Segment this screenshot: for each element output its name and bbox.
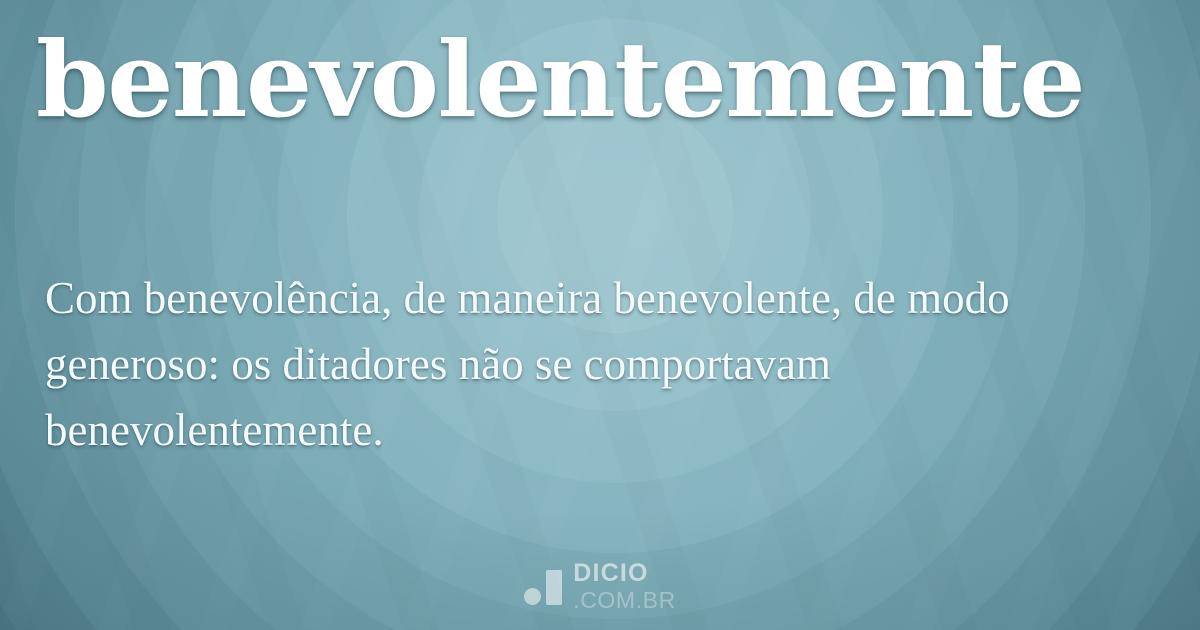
bar-mark-icon [546, 570, 562, 605]
headword-title: benevolentemente [36, 18, 1176, 142]
dicio-logo: DICIO .COM.BR [0, 560, 1200, 612]
definition-text: Com benevolência, de maneira benevolente… [45, 265, 1135, 463]
card-content: benevolentemente Com benevolência, de ma… [0, 0, 1200, 630]
logo-tld: .COM.BR [573, 589, 676, 612]
logo-name: DICIO [573, 561, 676, 586]
circle-mark-icon [524, 588, 541, 605]
dictionary-share-card: benevolentemente Com benevolência, de ma… [0, 0, 1200, 630]
logo-mark [524, 567, 562, 605]
logo-wordmark: DICIO .COM.BR [573, 561, 676, 612]
